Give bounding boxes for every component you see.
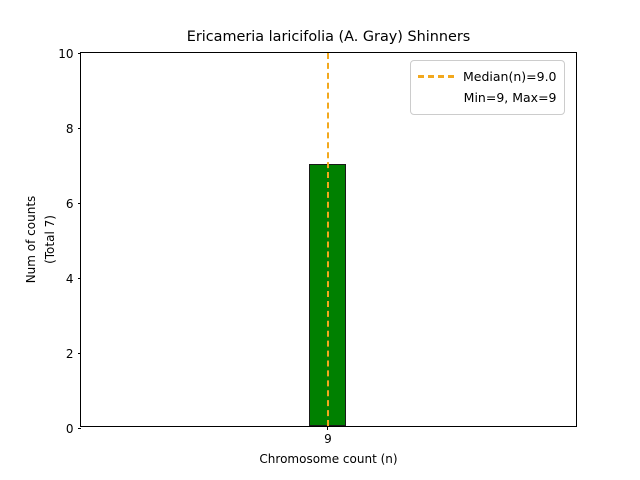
y-tick-0: 0: [78, 428, 82, 429]
y-tick-label-8: 8: [66, 121, 74, 137]
median-line: [327, 53, 329, 426]
legend-entry-minmax: Min=9, Max=9: [418, 87, 557, 108]
y-tick-label-0: 0: [66, 421, 74, 437]
x-tick-label-9: 9: [288, 431, 368, 447]
legend-entry-median: Median(n)=9.0: [418, 66, 557, 87]
y-tick-label-6: 6: [66, 196, 74, 212]
y-tick-label-4: 4: [66, 271, 74, 287]
legend: Median(n)=9.0 Min=9, Max=9: [410, 60, 565, 115]
legend-label-minmax: Min=9, Max=9: [464, 87, 557, 108]
page-title: Ericameria laricifolia (A. Gray) Shinner…: [80, 28, 577, 46]
y-tick-label-2: 2: [66, 346, 74, 362]
y-tick-label-10: 10: [58, 46, 73, 62]
y-axis-label: Num of counts (Total 7): [22, 52, 60, 427]
x-tick-9: 9: [327, 426, 328, 430]
legend-label-median: Median(n)=9.0: [463, 66, 557, 87]
chart-figure: Ericameria laricifolia (A. Gray) Shinner…: [0, 0, 640, 480]
dashed-line-icon: [418, 75, 454, 78]
x-axis-label: Chromosome count (n): [80, 452, 577, 467]
